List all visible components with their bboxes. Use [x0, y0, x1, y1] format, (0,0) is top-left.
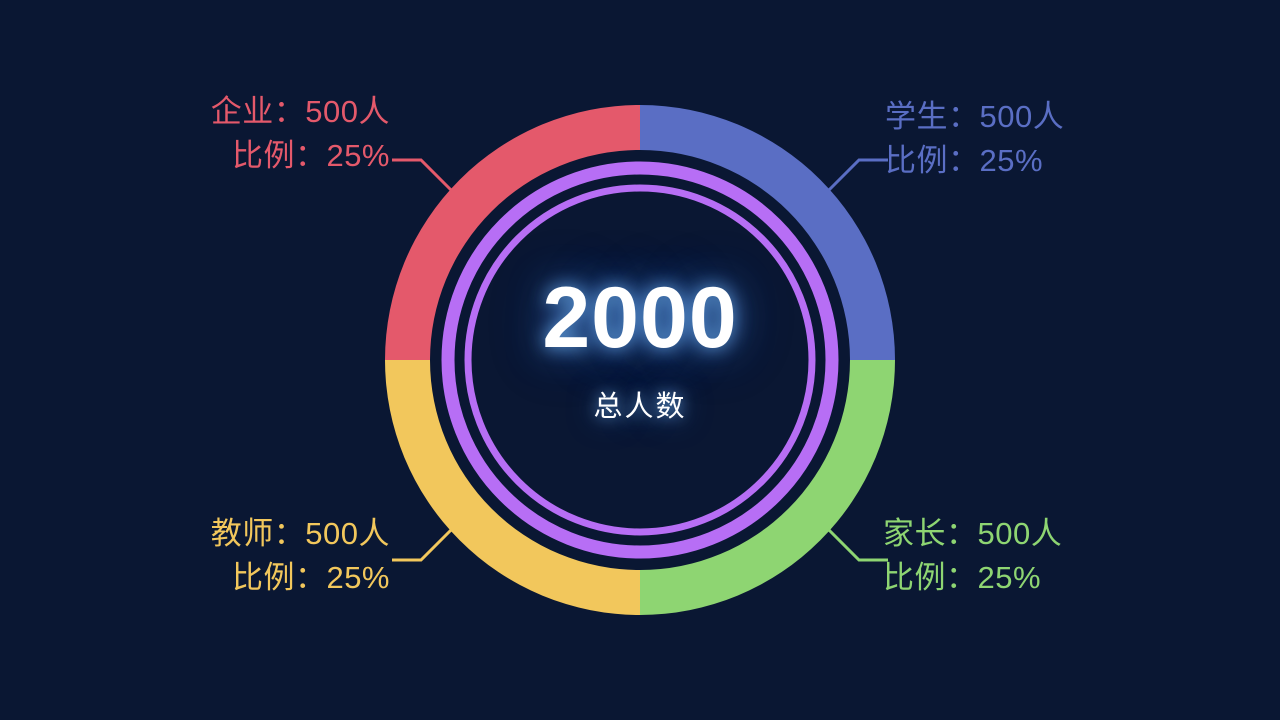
label-teacher: 教师：500人 比例：25%	[35, 512, 390, 600]
label-parent-count: 家长：500人	[883, 512, 1243, 556]
label-teacher-percent: 比例：25%	[35, 556, 390, 600]
label-student-count: 学生：500人	[885, 95, 1245, 139]
label-student-percent: 比例：25%	[885, 139, 1245, 183]
donut-segments	[385, 105, 895, 615]
inner-purple-ring-icon	[468, 188, 812, 532]
label-student: 学生：500人 比例：25%	[885, 95, 1245, 183]
label-parent-percent: 比例：25%	[883, 556, 1243, 600]
outer-purple-ring-icon	[448, 168, 832, 552]
donut-segment-student[interactable]	[640, 105, 895, 360]
donut-chart-canvas: 企业：500人 比例：25% 学生：500人 比例：25% 教师：500人 比例…	[0, 0, 1280, 720]
label-enterprise-percent: 比例：25%	[40, 134, 390, 178]
donut-segment-teacher[interactable]	[385, 360, 640, 615]
donut-segment-parent[interactable]	[640, 360, 895, 615]
donut-segment-enterprise[interactable]	[385, 105, 640, 360]
label-enterprise: 企业：500人 比例：25%	[40, 90, 390, 178]
label-parent: 家长：500人 比例：25%	[883, 512, 1243, 600]
label-teacher-count: 教师：500人	[35, 512, 390, 556]
label-enterprise-count: 企业：500人	[40, 90, 390, 134]
